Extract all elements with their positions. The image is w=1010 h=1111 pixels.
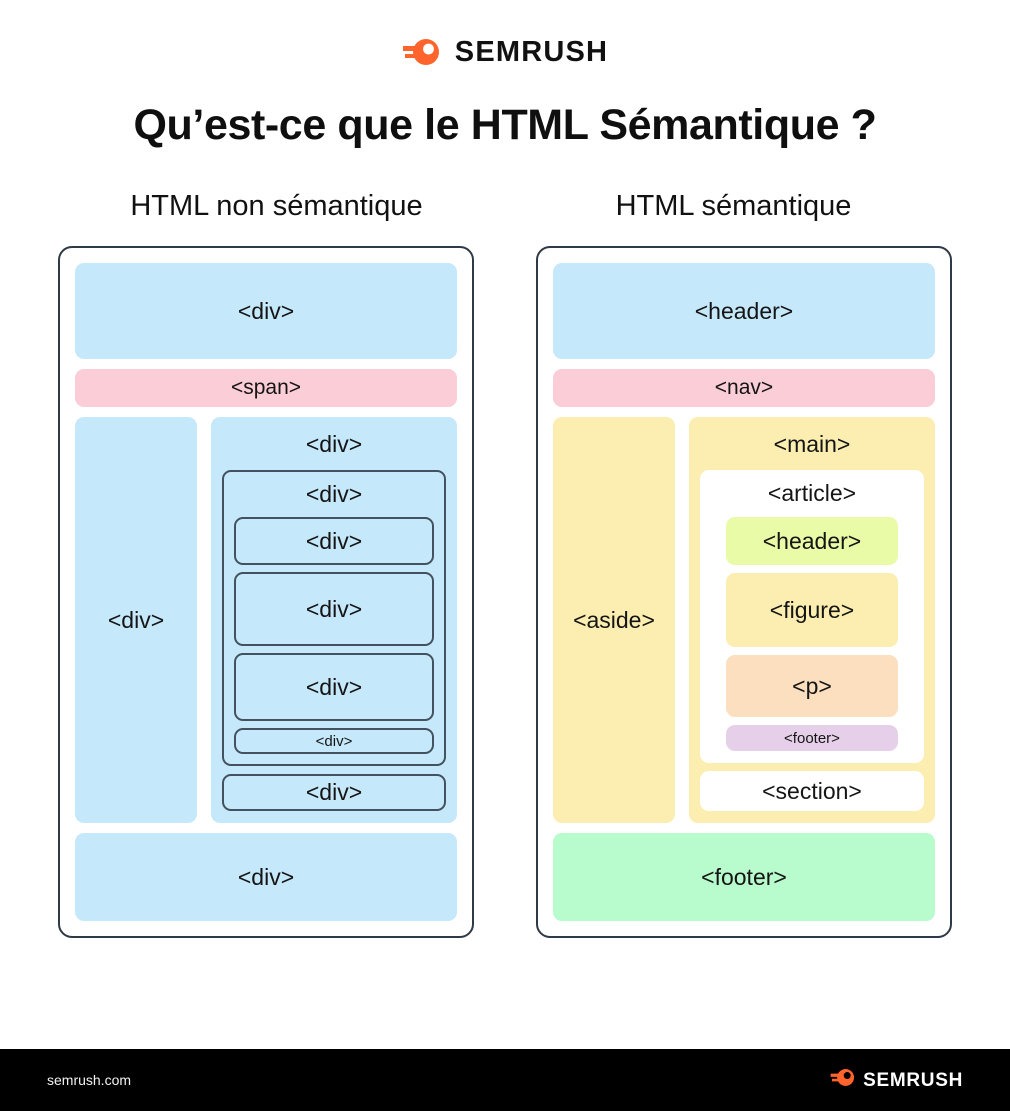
brand-footer: SEMRUSH xyxy=(830,1067,963,1093)
left-nested-group: <div> <div> <div> <div> <div> xyxy=(222,470,446,766)
right-footer-block: <footer> xyxy=(553,833,935,921)
column-headings: HTML non sémantique HTML sémantique xyxy=(0,190,1010,223)
semantic-panel: <header> <nav> <aside> <main> <article> … xyxy=(536,246,952,938)
left-aside-block: <div> xyxy=(75,417,197,823)
site-url: semrush.com xyxy=(47,1072,131,1088)
page-title: Qu’est-ce que le HTML Sémantique ? xyxy=(0,101,1010,150)
brand-header: SEMRUSH xyxy=(0,0,1010,52)
right-aside-block: <aside> xyxy=(553,417,675,823)
right-main-block: <main> <article> <header> <figure> <p> <… xyxy=(689,417,935,823)
left-main-block: <div> <div> <div> <div> <div> <div> <div… xyxy=(211,417,457,823)
bottom-bar: semrush.com SEMRUSH xyxy=(0,1049,1010,1111)
right-article-figure: <figure> xyxy=(726,573,898,647)
right-column-heading: HTML sémantique xyxy=(515,190,952,223)
right-main-label: <main> xyxy=(700,429,924,462)
non-semantic-panel: <div> <span> <div> <div> <div> <div> <di… xyxy=(58,246,474,938)
left-middle-row: <div> <div> <div> <div> <div> <div> <div… xyxy=(75,417,457,823)
right-article-paragraph: <p> xyxy=(726,655,898,717)
left-nested-item: <div> xyxy=(234,728,434,754)
left-main-label: <div> xyxy=(222,429,446,462)
brand-wordmark: SEMRUSH xyxy=(455,38,608,67)
left-footer-block: <div> xyxy=(75,833,457,921)
right-article-label: <article> xyxy=(726,480,898,509)
left-nested-item: <div> xyxy=(234,517,434,565)
right-nav-block: <nav> xyxy=(553,369,935,407)
right-header-block: <header> xyxy=(553,263,935,359)
left-nested-group-label: <div> xyxy=(234,481,434,510)
right-section-block: <section> xyxy=(700,771,924,811)
right-article-footer: <footer> xyxy=(726,725,898,751)
left-nested-item: <div> xyxy=(234,572,434,646)
left-nested-last: <div> xyxy=(222,774,446,811)
left-column-heading: HTML non sémantique xyxy=(58,190,495,223)
semrush-comet-icon xyxy=(830,1067,856,1093)
comparison-panels: <div> <span> <div> <div> <div> <div> <di… xyxy=(0,246,1010,938)
semrush-comet-icon xyxy=(402,36,442,68)
right-middle-row: <aside> <main> <article> <header> <figur… xyxy=(553,417,935,823)
left-nested-item: <div> xyxy=(234,653,434,721)
brand-wordmark-footer: SEMRUSH xyxy=(863,1071,963,1090)
right-article-header: <header> xyxy=(726,517,898,565)
right-article-block: <article> <header> <figure> <p> <footer> xyxy=(700,470,924,763)
left-nav-block: <span> xyxy=(75,369,457,407)
left-header-block: <div> xyxy=(75,263,457,359)
